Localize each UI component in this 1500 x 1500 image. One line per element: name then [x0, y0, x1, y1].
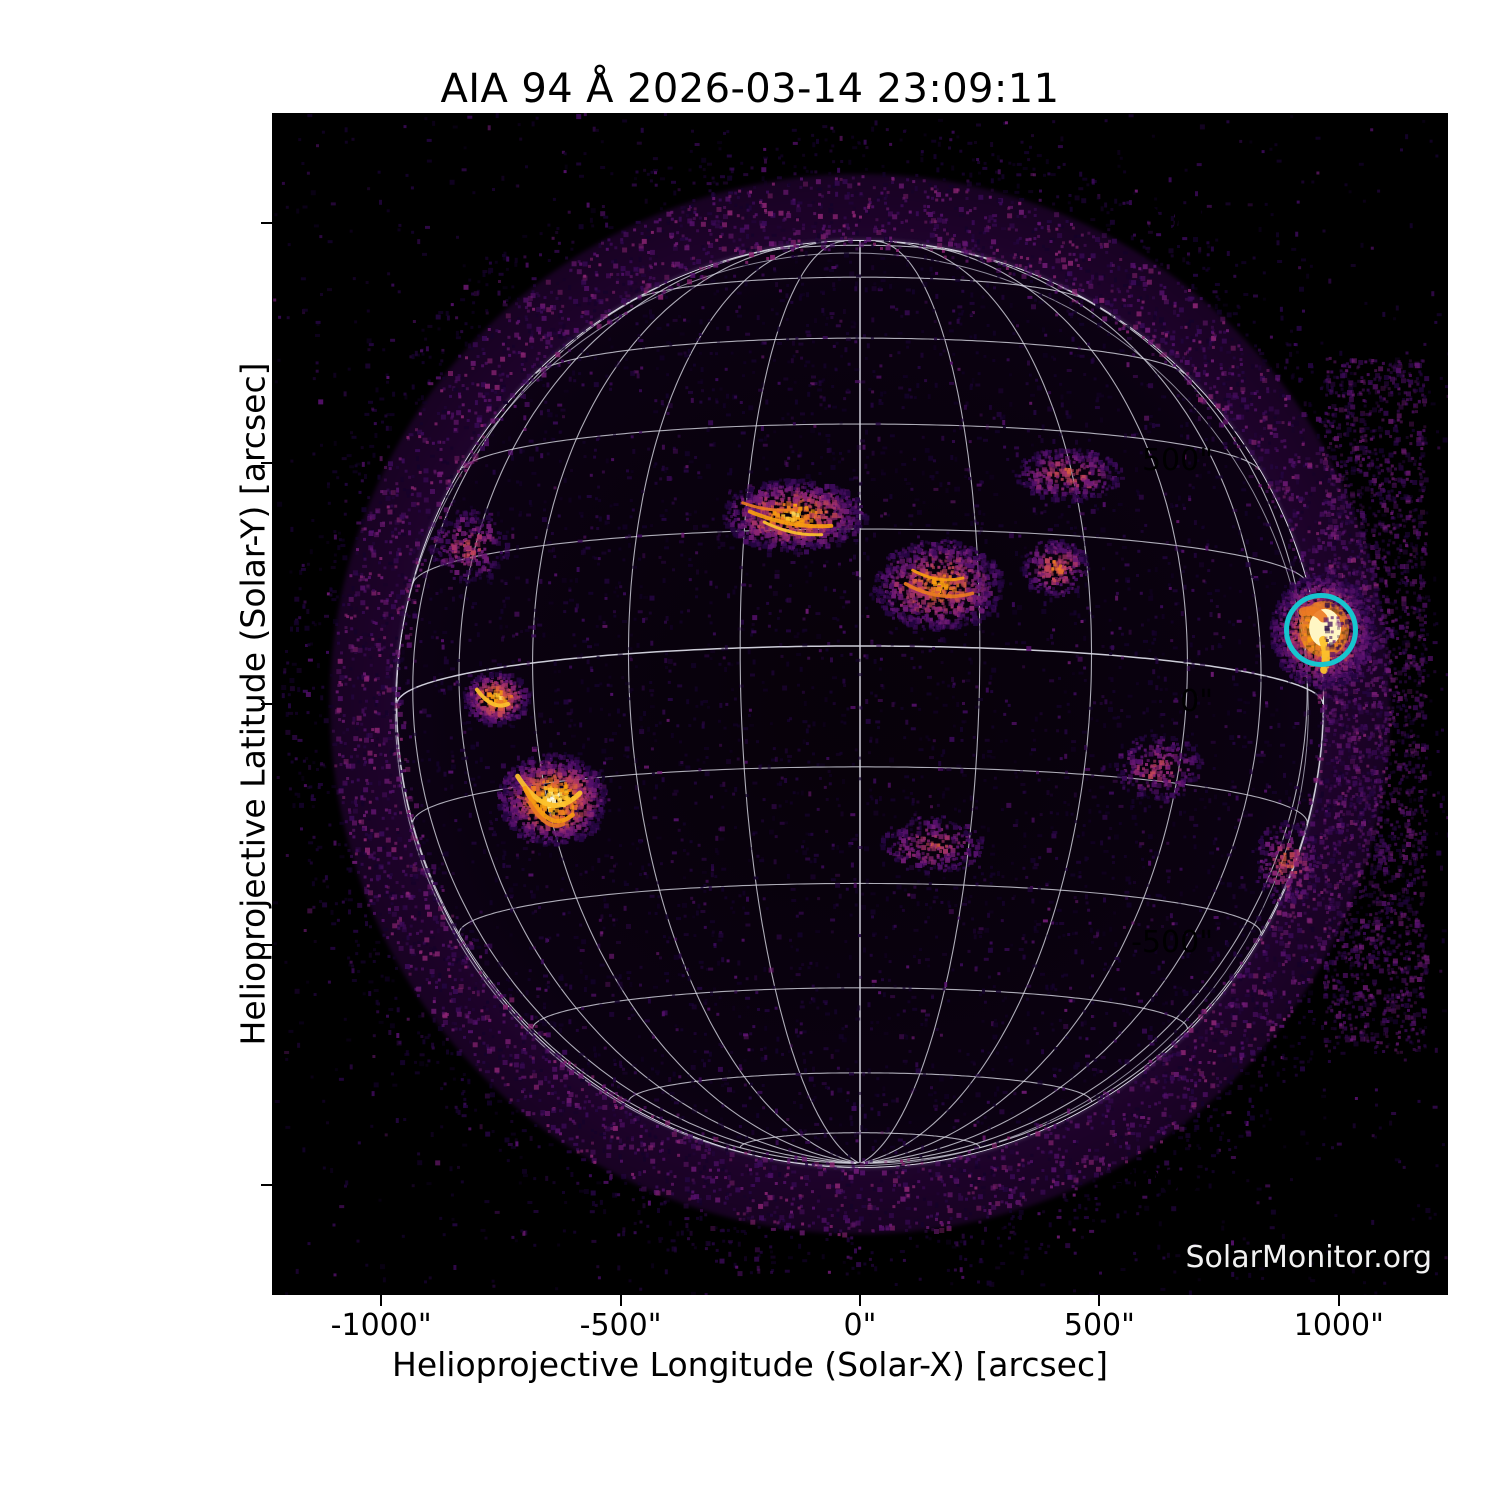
x-tick-mark — [620, 1295, 622, 1306]
y-tick-mark — [261, 222, 272, 224]
solar-image-figure: AIA 94 Å 2026-03-14 23:09:11 SolarMonito… — [0, 0, 1500, 1500]
x-tick-mark — [859, 1295, 861, 1306]
active-region-ne — [722, 478, 869, 554]
x-tick-mark — [1338, 1295, 1340, 1306]
active-region-features — [272, 113, 1448, 1295]
y-tick-mark — [261, 944, 272, 946]
plage-limb-se — [1256, 820, 1321, 908]
y-tick-mark — [261, 703, 272, 705]
active-region-east — [1022, 539, 1091, 598]
plage-s — [881, 816, 985, 876]
x-tick-mark — [1098, 1295, 1100, 1306]
active-region-w — [463, 671, 533, 728]
solar-image-plot-area[interactable]: SolarMonitor.org — [272, 113, 1448, 1295]
y-tick-label-4: -1000" — [1112, 1165, 1213, 1200]
x-tick-label-3: 500" — [989, 1308, 1209, 1343]
x-tick-label-1: -500" — [511, 1308, 731, 1343]
plage-ne — [1015, 448, 1121, 504]
figure-title: AIA 94 Å 2026-03-14 23:09:11 — [0, 66, 1500, 112]
background-speckle — [273, 113, 1448, 1295]
x-tick-label-0: -1000" — [271, 1308, 491, 1343]
watermark-label: SolarMonitor.org — [1186, 1240, 1432, 1275]
plage-nw — [430, 509, 511, 583]
x-tick-mark — [380, 1295, 382, 1306]
y-tick-label-2: 0" — [1180, 684, 1213, 719]
y-tick-mark — [261, 462, 272, 464]
y-tick-mark — [261, 1184, 272, 1186]
y-tick-label-0: 1000" — [1123, 203, 1213, 238]
y-tick-label-3: -500" — [1131, 925, 1213, 960]
y-tick-label-1: 500" — [1142, 443, 1213, 478]
x-axis-label: Helioprojective Longitude (Solar-X) [arc… — [0, 1345, 1500, 1384]
x-tick-label-2: 0" — [750, 1308, 970, 1343]
x-tick-label-4: 1000" — [1229, 1308, 1449, 1343]
active-region-annotation-circle[interactable] — [1284, 593, 1359, 668]
active-region-sw — [497, 752, 608, 847]
